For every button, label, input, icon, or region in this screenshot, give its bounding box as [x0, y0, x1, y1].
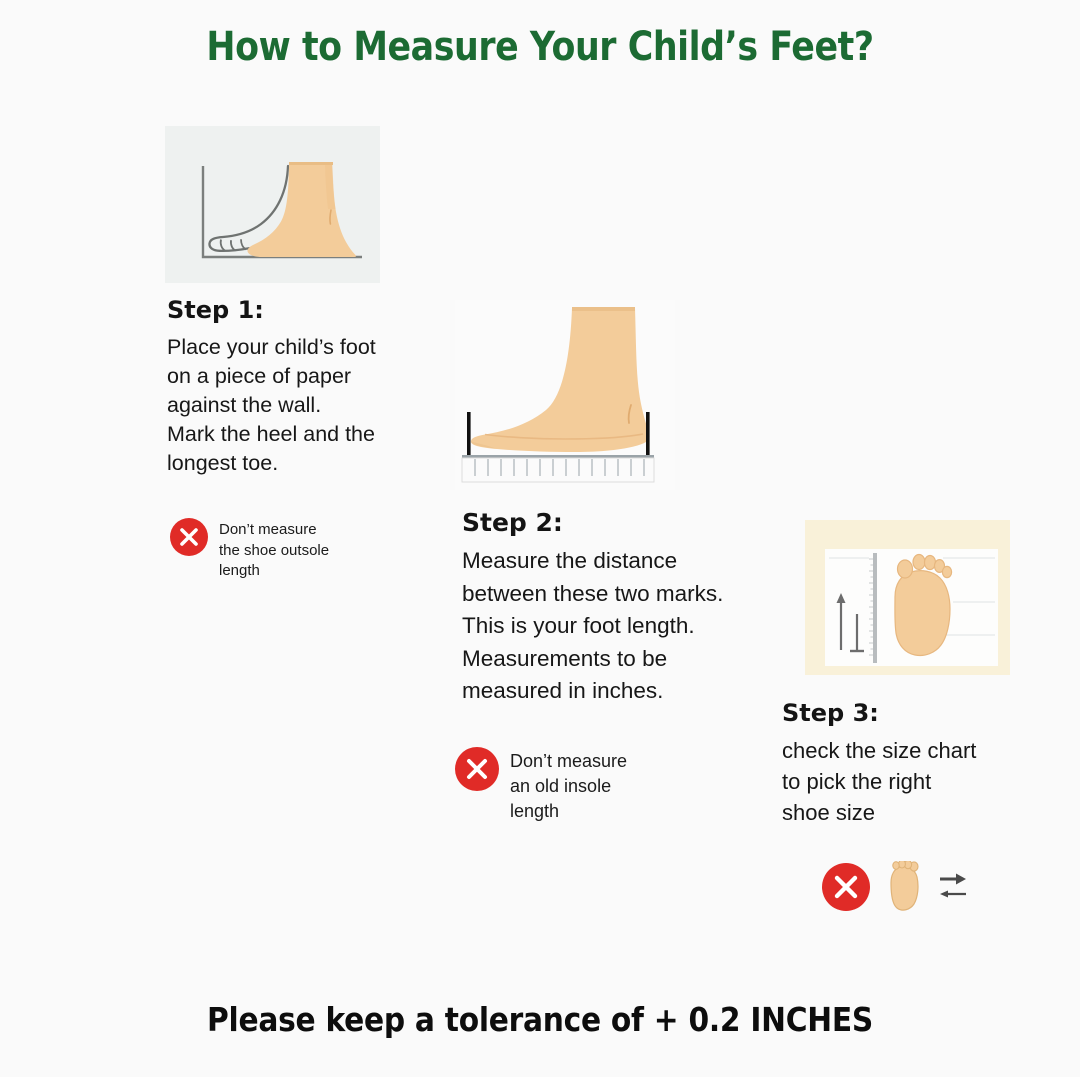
- step-2-title: Step 2:: [462, 508, 782, 537]
- step-3-body: check the size chart to pick the right s…: [782, 735, 1032, 828]
- arrow-pair-svg: [938, 867, 968, 907]
- sole-body: [895, 571, 950, 656]
- step-1-body: Place your child’s foot on a piece of pa…: [167, 333, 427, 478]
- foot-side-profile-with-ruler-svg: [455, 300, 675, 490]
- step-1-line-4: Mark the heel and the: [167, 420, 427, 449]
- toe-2: [913, 555, 925, 570]
- step-3-line-3: shoe size: [782, 797, 1032, 828]
- step-3-line-2: to pick the right: [782, 766, 1032, 797]
- step-2-line-4: Measurements to be: [462, 643, 782, 676]
- step-2-body: Measure the distance between these two m…: [462, 545, 782, 708]
- step-2-line-5: measured in inches.: [462, 675, 782, 708]
- step-3-warning: [822, 861, 968, 913]
- x-glyph: [822, 863, 870, 911]
- toe-d: [893, 862, 899, 870]
- warning-2-line-1: Don’t measure: [510, 749, 627, 774]
- step-1-title: Step 1:: [167, 296, 427, 324]
- heel-mark: [646, 412, 650, 455]
- leg-top-edge: [289, 162, 333, 165]
- big-toe: [898, 560, 913, 578]
- x-glyph: [455, 747, 499, 791]
- step-2-line-2: between these two marks.: [462, 578, 782, 611]
- step-2-line-1: Measure the distance: [462, 545, 782, 578]
- left-arrow-icon: [940, 891, 966, 898]
- x-glyph: [170, 518, 208, 556]
- red-x-circle-icon: [822, 863, 870, 911]
- foot-sole-icon-svg: [884, 861, 924, 913]
- chart-inner-area: [825, 549, 998, 666]
- step-1-illustration: [165, 126, 380, 283]
- warning-1-line-1: Don’t measure: [219, 520, 329, 541]
- toe-mark: [467, 412, 471, 455]
- toe-trace-2: [231, 240, 236, 250]
- step-1-line-1: Place your child’s foot: [167, 333, 427, 362]
- up-arrow: [837, 593, 846, 650]
- step-1-line-5: longest toe.: [167, 449, 427, 478]
- foot-side-profile: [471, 308, 650, 452]
- step-2-line-3: This is your foot length.: [462, 610, 782, 643]
- step-2-warning: Don’t measure an old insole length: [455, 747, 627, 824]
- foot-side-profile-against-wall-svg: [165, 126, 380, 283]
- tolerance-note: Please keep a tolerance of + 0.2 INCHES: [54, 1000, 1026, 1039]
- step-1-line-3: against the wall.: [167, 391, 427, 420]
- step-2-illustration: [455, 300, 675, 490]
- toe-5: [942, 566, 951, 577]
- step-2-block: Step 2: Measure the distance between the…: [462, 508, 782, 708]
- leg-top-edge: [572, 307, 635, 311]
- right-arrow-icon: [940, 874, 966, 885]
- step-3-line-1: check the size chart: [782, 735, 1032, 766]
- toe-3: [925, 556, 936, 570]
- warning-1-line-2: the shoe outsole: [219, 541, 329, 562]
- step-1-line-2: on a piece of paper: [167, 362, 427, 391]
- warning-2-line-2: an old insole: [510, 774, 627, 799]
- foot-side-profile: [247, 165, 356, 257]
- down-arrow: [850, 614, 864, 651]
- page-title: How to Measure Your Child’s Feet?: [70, 24, 1010, 70]
- foot-sole-icon: [884, 861, 924, 913]
- arrow-pair: [938, 867, 968, 907]
- ruler-body: [462, 458, 654, 482]
- step-3-title: Step 3:: [782, 699, 1032, 727]
- foot-sole-chart-svg: [825, 549, 998, 666]
- toe-trace-1: [221, 240, 225, 251]
- warning-1-line-3: length: [219, 561, 329, 582]
- warning-2-line-3: length: [510, 799, 627, 824]
- toe-trace-3: [241, 239, 246, 249]
- step-3-illustration: [805, 520, 1010, 675]
- sole-body: [891, 866, 918, 910]
- red-x-circle-icon: [455, 747, 499, 791]
- vertical-ruler: [873, 553, 877, 663]
- step-1-block: Step 1: Place your child’s foot on a pie…: [167, 296, 427, 478]
- step-3-block: Step 3: check the size chart to pick the…: [782, 699, 1032, 828]
- measure-guide-page: How to Measure Your Child’s Feet? Step 1…: [0, 0, 1080, 1077]
- foot-sole-top-view: [895, 555, 952, 656]
- step-2-warning-text: Don’t measure an old insole length: [510, 747, 627, 824]
- step-1-warning-text: Don’t measure the shoe outsole length: [219, 518, 329, 582]
- red-x-circle-icon: [170, 518, 208, 556]
- vertical-ruler-ticks: [869, 559, 873, 655]
- step-1-warning: Don’t measure the shoe outsole length: [170, 518, 329, 582]
